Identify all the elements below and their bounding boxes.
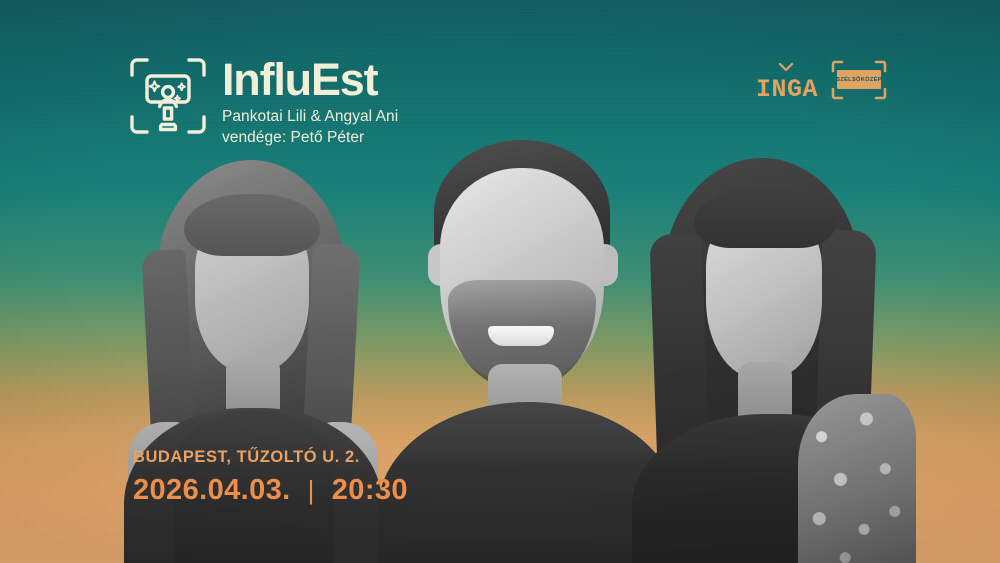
partner-logo-group: INGA SZÉLSŐKÖZÉP: [756, 58, 888, 102]
smile-shape: [488, 326, 554, 346]
inga-logo: INGA: [756, 58, 814, 102]
portrait-right: [632, 158, 912, 563]
event-poster: InfluEst Pankotai Lili & Angyal Ani vend…: [0, 0, 1000, 563]
brand-block: InfluEst Pankotai Lili & Angyal Ani vend…: [128, 56, 398, 148]
brand-subtitle: Pankotai Lili & Angyal Ani vendége: Pető…: [222, 107, 398, 148]
hosts-line: Pankotai Lili & Angyal Ani: [222, 107, 398, 128]
szelsokozep-logo: SZÉLSŐKÖZÉP: [830, 59, 888, 101]
fringe-shape: [184, 194, 320, 256]
inga-wordmark: INGA: [756, 77, 818, 102]
datetime-separator: |: [308, 475, 315, 506]
szelsokozep-label: SZÉLSŐKÖZÉP: [836, 77, 882, 83]
guest-line: vendége: Pető Péter: [222, 128, 398, 149]
event-info-block: BUDAPEST, TŰZOLTÓ U. 2. 2026.04.03. | 20…: [133, 448, 408, 507]
influencer-camera-frame-icon: [128, 56, 208, 136]
szelsokozep-badge: SZÉLSŐKÖZÉP: [837, 70, 881, 89]
venue-text: BUDAPEST, TŰZOLTÓ U. 2.: [133, 448, 408, 467]
datetime-row: 2026.04.03. | 20:30: [133, 474, 408, 507]
fringe-shape: [694, 188, 836, 248]
page-title: InfluEst: [222, 58, 398, 102]
brand-text-block: InfluEst Pankotai Lili & Angyal Ani vend…: [222, 56, 398, 148]
patterned-shoulder: [798, 394, 916, 563]
event-time: 20:30: [332, 474, 408, 507]
event-date: 2026.04.03.: [133, 474, 291, 507]
chevron-down-icon: [778, 59, 794, 69]
